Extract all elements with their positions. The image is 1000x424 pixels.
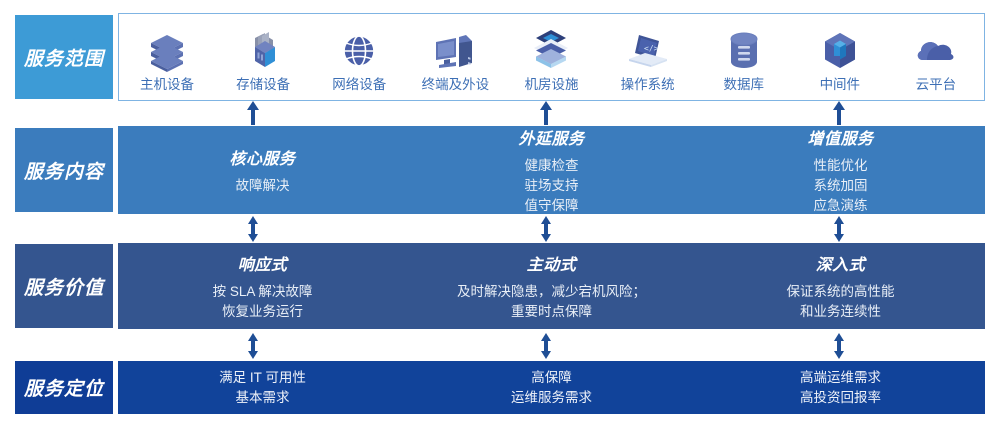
column-line: 满足 IT 可用性 bbox=[219, 368, 306, 388]
scope-item-label: 主机设备 bbox=[140, 78, 194, 92]
service-positioning-panel: 满足 IT 可用性 基本需求 高保障 运维服务需求 高端运维需求 高投资回报率 bbox=[118, 361, 985, 414]
connector-double-arrow-lower-column-2 bbox=[537, 333, 555, 359]
storage-array-icon bbox=[241, 27, 285, 73]
row-label-service-scope: 服务范围 bbox=[15, 15, 113, 99]
column-line: 和业务连续性 bbox=[787, 302, 895, 322]
service-scope-panel: 主机设备 存储设备 bbox=[118, 13, 985, 101]
column-title: 主动式 bbox=[527, 251, 577, 275]
database-cylinder-icon bbox=[722, 27, 766, 73]
globe-network-icon bbox=[337, 27, 381, 73]
connector-double-arrow-column-2 bbox=[537, 216, 555, 242]
column-title: 增值服务 bbox=[807, 125, 873, 149]
scope-item-storage-equipment[interactable]: 存储设备 bbox=[215, 14, 311, 100]
column-line: 高投资回报率 bbox=[800, 388, 881, 408]
service-content-panel: 核心服务 故障解决 外延服务 健康检查 驻场支持 值守保障 增值服务 性能优化 … bbox=[118, 126, 985, 214]
desktop-pc-icon bbox=[432, 27, 478, 73]
column-lines: 按 SLA 解决故障 恢复业务运行 bbox=[213, 282, 313, 322]
column-line: 重要时点保障 bbox=[457, 302, 646, 322]
value-column-in-depth[interactable]: 深入式 保证系统的高性能 和业务连续性 bbox=[696, 243, 985, 329]
column-line: 保证系统的高性能 bbox=[787, 282, 895, 302]
row-label-service-positioning: 服务定位 bbox=[15, 361, 113, 414]
column-lines: 高保障 运维服务需求 bbox=[511, 368, 592, 408]
column-lines: 满足 IT 可用性 基本需求 bbox=[219, 368, 306, 408]
service-framework-diagram: 服务范围 主机设备 bbox=[0, 0, 1000, 424]
column-line: 值守保障 bbox=[525, 196, 579, 216]
column-line: 恢复业务运行 bbox=[213, 302, 313, 322]
connector-double-arrow-lower-column-3 bbox=[830, 333, 848, 359]
connector-up-arrow-column-1 bbox=[244, 101, 262, 125]
column-title: 响应式 bbox=[238, 251, 288, 275]
scope-item-label: 机房设施 bbox=[524, 78, 578, 92]
positioning-column-high-assurance[interactable]: 高保障 运维服务需求 bbox=[407, 361, 696, 414]
scope-item-label: 终端及外设 bbox=[422, 78, 490, 92]
scope-item-label: 网络设备 bbox=[332, 78, 386, 92]
column-line: 运维服务需求 bbox=[511, 388, 592, 408]
datacenter-facility-icon bbox=[528, 27, 574, 73]
column-line: 基本需求 bbox=[219, 388, 306, 408]
scope-item-terminal-peripherals[interactable]: 终端及外设 bbox=[407, 14, 503, 100]
column-title: 核心服务 bbox=[229, 145, 295, 169]
connector-up-arrow-column-2 bbox=[537, 101, 555, 125]
positioning-column-high-end[interactable]: 高端运维需求 高投资回报率 bbox=[696, 361, 985, 414]
cube-middleware-icon bbox=[818, 27, 862, 73]
svg-text:</>: </> bbox=[644, 44, 659, 53]
scope-item-network-equipment[interactable]: 网络设备 bbox=[311, 14, 407, 100]
column-line: 健康检查 bbox=[525, 156, 579, 176]
scope-item-middleware[interactable]: 中间件 bbox=[792, 14, 888, 100]
scope-item-host-equipment[interactable]: 主机设备 bbox=[119, 14, 215, 100]
column-title: 外延服务 bbox=[518, 125, 584, 149]
content-column-value-added-service[interactable]: 增值服务 性能优化 系统加固 应急演练 bbox=[696, 126, 985, 214]
column-line: 系统加固 bbox=[814, 176, 868, 196]
laptop-code-icon: </> bbox=[625, 27, 671, 73]
column-line: 及时解决隐患，减少宕机风险； bbox=[457, 282, 646, 302]
connector-up-arrow-column-3 bbox=[830, 101, 848, 125]
row-label-service-content: 服务内容 bbox=[15, 128, 113, 212]
column-lines: 高端运维需求 高投资回报率 bbox=[800, 368, 881, 408]
content-column-core-service[interactable]: 核心服务 故障解决 bbox=[118, 126, 407, 214]
column-lines: 保证系统的高性能 和业务连续性 bbox=[787, 282, 895, 322]
column-lines: 及时解决隐患，减少宕机风险； 重要时点保障 bbox=[457, 282, 646, 322]
scope-item-label: 数据库 bbox=[723, 78, 764, 92]
value-column-proactive[interactable]: 主动式 及时解决隐患，减少宕机风险； 重要时点保障 bbox=[407, 243, 696, 329]
service-value-panel: 响应式 按 SLA 解决故障 恢复业务运行 主动式 及时解决隐患，减少宕机风险；… bbox=[118, 243, 985, 329]
column-title: 深入式 bbox=[816, 251, 866, 275]
row-label-service-value: 服务价值 bbox=[15, 244, 113, 328]
scope-item-operating-system[interactable]: </> 操作系统 bbox=[600, 14, 696, 100]
connector-double-arrow-column-3 bbox=[830, 216, 848, 242]
column-line: 按 SLA 解决故障 bbox=[213, 282, 313, 302]
scope-item-label: 操作系统 bbox=[621, 78, 675, 92]
column-line: 应急演练 bbox=[814, 196, 868, 216]
scope-item-label: 存储设备 bbox=[236, 78, 290, 92]
column-line: 高端运维需求 bbox=[800, 368, 881, 388]
scope-item-datacenter-facility[interactable]: 机房设施 bbox=[503, 14, 599, 100]
scope-item-database[interactable]: 数据库 bbox=[696, 14, 792, 100]
column-lines: 性能优化 系统加固 应急演练 bbox=[814, 156, 868, 216]
cloud-icon bbox=[912, 27, 960, 73]
column-line: 高保障 bbox=[511, 368, 592, 388]
connector-double-arrow-column-1 bbox=[244, 216, 262, 242]
server-stack-icon bbox=[145, 27, 189, 73]
scope-item-label: 中间件 bbox=[820, 78, 861, 92]
column-line: 性能优化 bbox=[814, 156, 868, 176]
connector-double-arrow-lower-column-1 bbox=[244, 333, 262, 359]
value-column-responsive[interactable]: 响应式 按 SLA 解决故障 恢复业务运行 bbox=[118, 243, 407, 329]
column-lines: 健康检查 驻场支持 值守保障 bbox=[525, 156, 579, 216]
column-line: 故障解决 bbox=[236, 176, 290, 196]
column-line: 驻场支持 bbox=[525, 176, 579, 196]
content-column-extended-service[interactable]: 外延服务 健康检查 驻场支持 值守保障 bbox=[407, 126, 696, 214]
column-lines: 故障解决 bbox=[236, 176, 290, 196]
scope-item-cloud-platform[interactable]: 云平台 bbox=[888, 14, 984, 100]
scope-item-label: 云平台 bbox=[916, 78, 957, 92]
positioning-column-basic[interactable]: 满足 IT 可用性 基本需求 bbox=[118, 361, 407, 414]
